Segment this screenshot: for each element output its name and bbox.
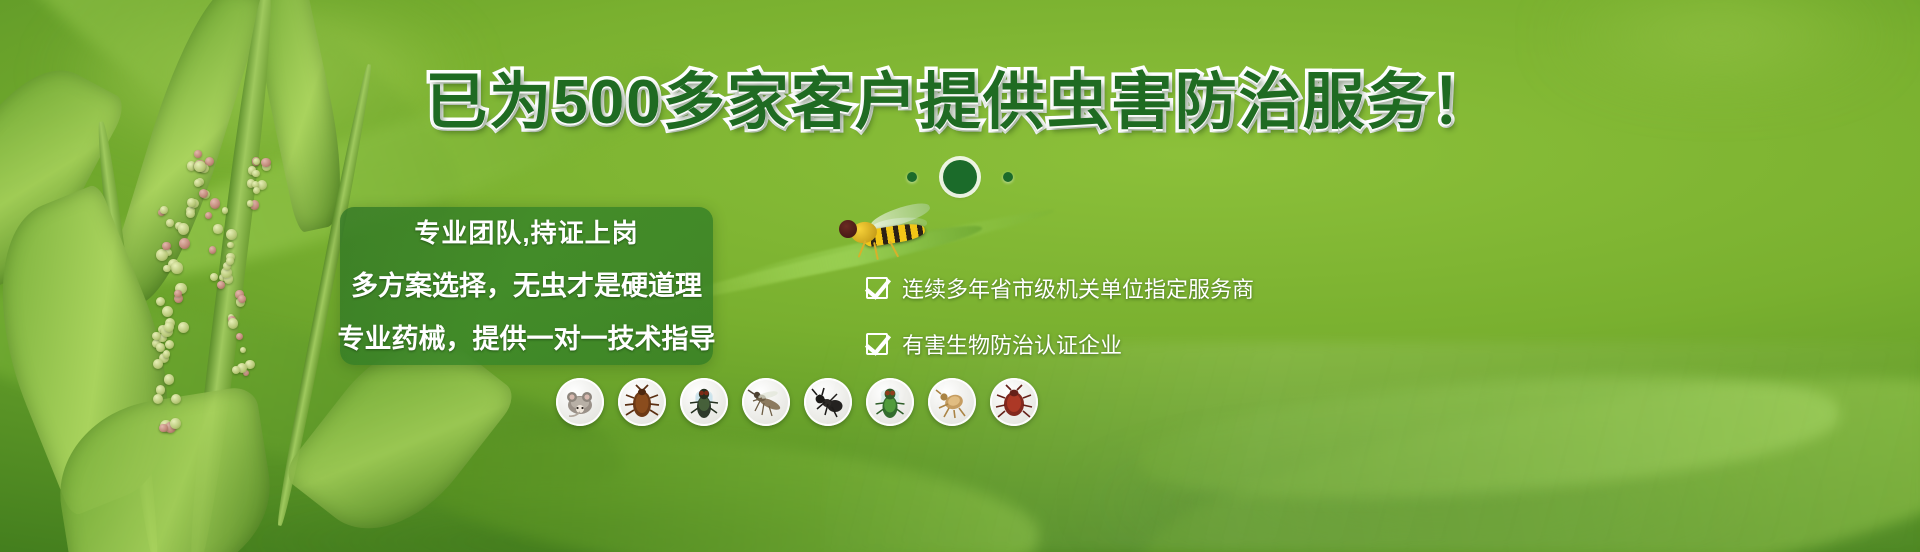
feature-list: 连续多年省市级机关单位指定服务商 有害生物防治认证企业 [866, 272, 1346, 360]
plant-bud [153, 394, 163, 404]
list-item: 有害生物防治认证企业 [866, 328, 1346, 360]
mouse-icon[interactable] [556, 378, 604, 426]
page-title: 已为500多家客户提供虫害防治服务！ [0, 72, 1920, 134]
plant-bud [156, 249, 168, 261]
plant-bud [178, 322, 189, 333]
plant-bud [171, 394, 181, 404]
plant-bud [238, 295, 246, 303]
decorative-divider [0, 160, 1920, 194]
plant-bud [205, 212, 212, 219]
small-dot-icon [907, 172, 917, 182]
plant-bud [194, 150, 202, 158]
hoverfly-head-icon [839, 220, 857, 238]
plant-bud [164, 374, 175, 385]
plant-bud [153, 359, 163, 369]
plant-bud [217, 281, 225, 289]
panel-line-3: 专业药械，提供一对一技术指导 [338, 317, 716, 356]
plant-bud [240, 347, 247, 354]
plant-bud [228, 318, 239, 329]
hoverfly-illustration [845, 200, 965, 260]
plant-bud [187, 198, 196, 207]
small-dot-icon [1003, 172, 1013, 182]
flea-icon[interactable] [928, 378, 976, 426]
plant-bud [163, 350, 171, 358]
checkbox-checked-icon [866, 277, 888, 299]
plant-bud [210, 198, 220, 208]
plant-bud [166, 219, 173, 226]
plant-bud [226, 257, 234, 265]
promo-banner: 已为500多家客户提供虫害防治服务！ 专业团队,持证上岗 多方案选择，无虫才是硬… [0, 0, 1920, 552]
plant-bud [164, 322, 174, 332]
plant-bud [162, 242, 171, 251]
panel-line-1: 专业团队,持证上岗 [414, 213, 638, 250]
feature-label: 连续多年省市级机关单位指定服务商 [902, 272, 1254, 304]
plant-bud [227, 242, 233, 248]
checkbox-checked-icon [866, 333, 888, 355]
list-item: 连续多年省市级机关单位指定服务商 [866, 272, 1346, 304]
plant-bud [186, 209, 195, 218]
plant-bud [210, 273, 218, 281]
housefly-icon[interactable] [680, 378, 728, 426]
plant-bud [178, 223, 189, 234]
ant-icon[interactable] [804, 378, 852, 426]
plant-bud [213, 224, 222, 233]
panel-line-2: 多方案选择，无虫才是硬道理 [351, 264, 702, 303]
plant-bud [226, 229, 237, 240]
plant-bud [171, 262, 182, 273]
plant-bud [222, 207, 229, 214]
feature-label: 有害生物防治认证企业 [902, 328, 1122, 360]
selling-points-panel: 专业团队,持证上岗 多方案选择，无虫才是硬道理 专业药械，提供一对一技术指导 [340, 207, 713, 365]
big-dot-icon [943, 160, 977, 194]
plant-bud [247, 200, 253, 206]
plant-bud [165, 340, 175, 350]
mosquito-icon[interactable] [742, 378, 790, 426]
bedbug-icon[interactable] [990, 378, 1038, 426]
plant-bud [170, 418, 182, 430]
plant-bud [163, 265, 170, 272]
plant-bud [162, 306, 173, 317]
plant-bud [232, 366, 240, 374]
plant-bud [236, 333, 243, 340]
plant-bud [209, 246, 217, 254]
cockroach-icon[interactable] [618, 378, 666, 426]
plant-bud [156, 297, 165, 306]
greenbottle-fly-icon[interactable] [866, 378, 914, 426]
plant-bud [159, 424, 168, 433]
pest-icon-row [556, 378, 1038, 426]
headline-text: 已为500多家客户提供虫害防治服务！ [425, 68, 1494, 137]
plant-bud [179, 238, 190, 249]
plant-bud [160, 206, 168, 214]
